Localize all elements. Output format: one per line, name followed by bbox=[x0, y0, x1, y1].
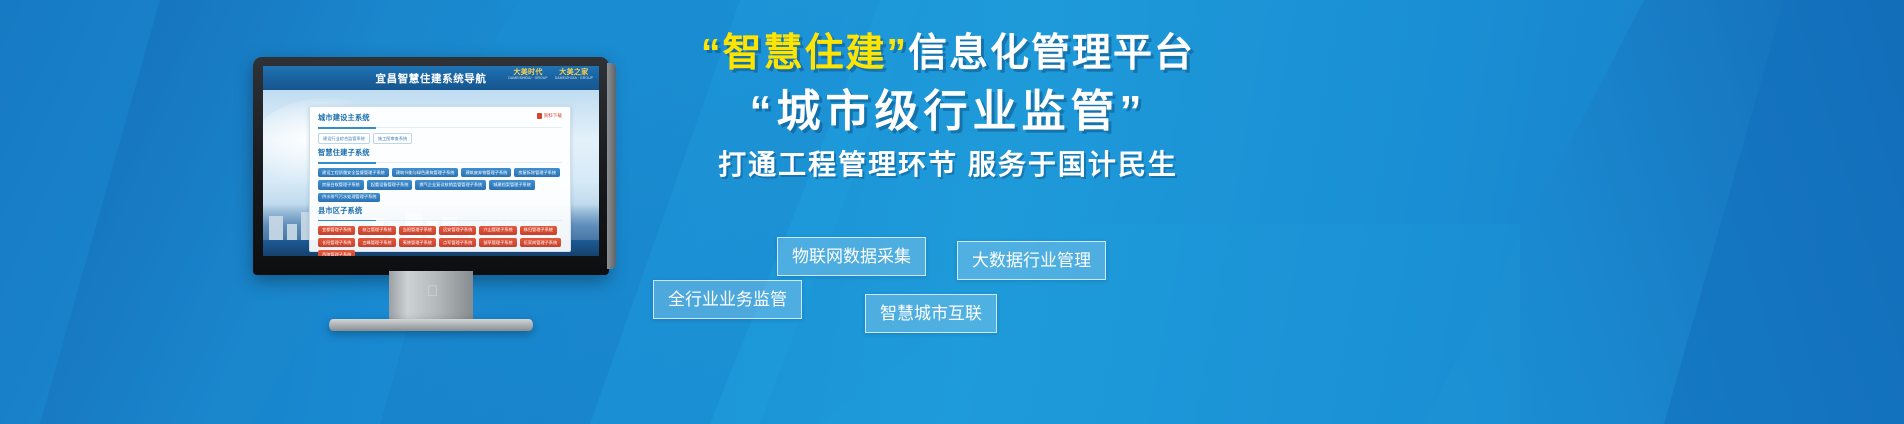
download-icon bbox=[537, 113, 542, 119]
section-title-sub: 智慧住建子系统 bbox=[318, 148, 562, 158]
nav-chip[interactable]: 夷陵管理子系统 bbox=[399, 238, 436, 247]
download-link[interactable]: 资料下载 bbox=[537, 113, 562, 119]
brand-logo-1-name: 大美时代 bbox=[513, 69, 542, 76]
nav-chip[interactable]: 猇亭管理子系统 bbox=[479, 238, 516, 247]
brand-logo-1: 大美时代 DAMEISHIDAI · GROUP bbox=[508, 69, 547, 80]
headline-line-1: “智慧住建”信息化管理平台 bbox=[648, 34, 1248, 73]
section-title-county: 县市区子系统 bbox=[318, 206, 562, 216]
nav-chip[interactable]: 枝江管理子系统 bbox=[358, 226, 395, 235]
monitor-screen: 宜昌智慧住建系统导航 大美时代 DAMEISHIDAI · GROUP 大美之家… bbox=[263, 66, 599, 256]
headline-block: “智慧住建”信息化管理平台 “城市级行业监管” 打通工程管理环节 服务于国计民生 bbox=[648, 34, 1248, 179]
nav-chip[interactable]: 建设工程质量安全监督管理子系统 bbox=[318, 168, 389, 177]
brand-logo-2-sub: DAMEIZHIJIA · GROUP bbox=[555, 77, 593, 80]
headline-rest: 信息化管理平台 bbox=[908, 32, 1195, 75]
feature-tag-smartcity[interactable]: 智慧城市互联 bbox=[865, 294, 997, 333]
nav-chip[interactable]: 宜都管理子系统 bbox=[318, 226, 355, 235]
site-logo-group: 大美时代 DAMEISHIDAI · GROUP 大美之家 DAMEIZHIJI… bbox=[508, 69, 593, 80]
brand-logo-1-sub: DAMEISHIDAI · GROUP bbox=[508, 77, 547, 80]
nav-chip[interactable]: 起重设备管理子系统 bbox=[367, 180, 413, 189]
nav-chip[interactable]: 建筑废弃物管理子系统 bbox=[461, 168, 511, 177]
nav-chip[interactable]: 建筑节能与绿色建筑管理子系统 bbox=[392, 168, 459, 177]
headline-line-3: 打通工程管理环节 服务于国计民生 bbox=[648, 151, 1248, 179]
background-facet-5 bbox=[1604, 0, 1904, 424]
nav-chip[interactable]: 房屋白蚁管理子系统 bbox=[318, 180, 364, 189]
chip-group-main: 建设行业综合监管系统 施工图审查系统 bbox=[318, 133, 562, 144]
promo-banner: 宜昌智慧住建系统导航 大美时代 DAMEISHIDAI · GROUP 大美之家… bbox=[0, 0, 1904, 424]
nav-chip[interactable]: 燃气企业复议核销监管管理子系统 bbox=[415, 180, 486, 189]
feature-tag-industry[interactable]: 全行业业务监管 bbox=[653, 280, 802, 319]
nav-chip[interactable]: 施工图审查系统 bbox=[373, 133, 412, 144]
nav-chip[interactable]: 五峰管理子系统 bbox=[358, 238, 395, 247]
nav-chip[interactable]: 秭归管理子系统 bbox=[520, 226, 557, 235]
section-divider bbox=[318, 162, 562, 163]
brand-logo-2-name: 大美之家 bbox=[559, 69, 588, 76]
site-title: 宜昌智慧住建系统导航 bbox=[376, 71, 487, 86]
chip-group-county: 宜都管理子系统 枝江管理子系统 当阳管理子系统 远安管理子系统 兴山管理子系统 … bbox=[318, 226, 562, 256]
building bbox=[269, 216, 283, 242]
nav-chip[interactable]: 远安管理子系统 bbox=[439, 226, 476, 235]
nav-chip[interactable]: 供水排气污水处理管理子系统 bbox=[318, 193, 380, 202]
brand-logo-2: 大美之家 DAMEIZHIJIA · GROUP bbox=[555, 69, 593, 80]
feature-tag-bigdata[interactable]: 大数据行业管理 bbox=[957, 241, 1106, 280]
headline-quote-open: “ bbox=[701, 32, 723, 75]
section-title-main: 城市建设主系统 bbox=[318, 113, 562, 123]
chip-group-sub: 建设工程质量安全监督管理子系统 建筑节能与绿色建筑管理子系统 建筑废弃物管理子系… bbox=[318, 168, 562, 202]
nav-chip[interactable]: 城建档案管理子系统 bbox=[489, 180, 535, 189]
headline-line-2: “城市级行业监管” bbox=[648, 90, 1248, 134]
section-divider bbox=[318, 127, 562, 128]
feature-tag-iot[interactable]: 物联网数据采集 bbox=[777, 237, 926, 276]
nav-chip[interactable]: 点军管理子系统 bbox=[439, 238, 476, 247]
download-label: 资料下载 bbox=[544, 113, 562, 119]
nav-chip[interactable]: 当阳管理子系统 bbox=[399, 226, 436, 235]
headline-highlight: 智慧住建 bbox=[722, 32, 886, 75]
nav-chip[interactable]: 建设行业综合监管系统 bbox=[318, 133, 370, 144]
feature-tag-group: 物联网数据采集 大数据行业管理 全行业业务监管 智慧城市互联 bbox=[640, 232, 1260, 362]
background-facet-4 bbox=[1284, 0, 1904, 424]
monitor-bezel: 宜昌智慧住建系统导航 大美时代 DAMEISHIDAI · GROUP 大美之家… bbox=[253, 57, 609, 275]
monitor-stand-base bbox=[329, 319, 533, 331]
apple-logo-icon:  bbox=[425, 283, 440, 300]
background-facet-7 bbox=[0, 0, 260, 424]
headline-quote-close: ” bbox=[887, 32, 909, 75]
nav-chip[interactable]: 长阳管理子系统 bbox=[318, 238, 355, 247]
nav-chip[interactable]: 房屋拆除管理子系统 bbox=[514, 168, 560, 177]
nav-chip[interactable]: 西陵管理子系统 bbox=[318, 250, 355, 256]
section-divider bbox=[318, 220, 562, 221]
nav-panel: 资料下载 城市建设主系统 建设行业综合监管系统 施工图审查系统 智慧住建子系统 … bbox=[309, 106, 571, 252]
imac-monitor-mockup: 宜昌智慧住建系统导航 大美时代 DAMEISHIDAI · GROUP 大美之家… bbox=[253, 57, 609, 302]
nav-chip[interactable]: 伍家岗管理子系统 bbox=[520, 238, 562, 247]
site-header-bar: 宜昌智慧住建系统导航 大美时代 DAMEISHIDAI · GROUP 大美之家… bbox=[263, 66, 599, 90]
nav-chip[interactable]: 兴山管理子系统 bbox=[479, 226, 516, 235]
